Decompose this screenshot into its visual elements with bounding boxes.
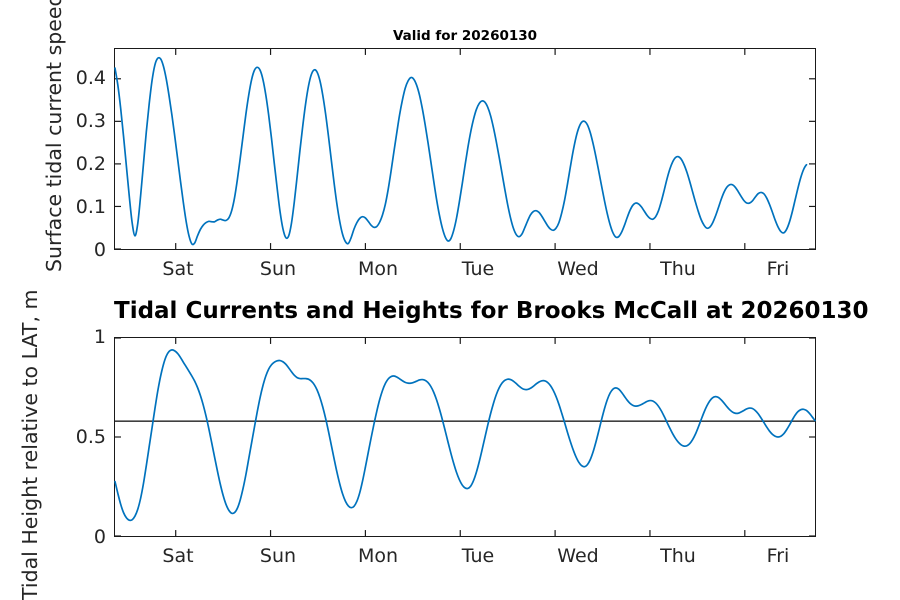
ytick-label: 1 bbox=[50, 328, 106, 347]
current-speed-plot-area bbox=[115, 49, 815, 249]
xtick-label: Fri bbox=[733, 545, 823, 567]
page-title: Tidal Currents and Heights for Brooks Mc… bbox=[114, 297, 874, 325]
xtick-label: Wed bbox=[533, 258, 623, 280]
xtick-label: Tue bbox=[433, 545, 523, 567]
current-speed-ylabel: Surface tidal current speed, kn bbox=[44, 0, 65, 272]
xtick-label: Thu bbox=[633, 545, 723, 567]
xtick-label: Sun bbox=[233, 545, 323, 567]
series-line bbox=[115, 350, 815, 520]
tidal-figure: Valid for 20260130 0 0.1 0.2 0.3 0.4 Sat… bbox=[0, 0, 900, 600]
ytick-label: 0 bbox=[50, 528, 106, 547]
xtick-label: Sun bbox=[233, 258, 323, 280]
tidal-height-ylabel: Tidal Height relative to LAT, m bbox=[20, 290, 41, 600]
xtick-label: Mon bbox=[333, 545, 423, 567]
tidal-height-axes bbox=[114, 337, 816, 537]
tidal-height-plot-area bbox=[115, 338, 815, 536]
current-speed-axes bbox=[114, 48, 816, 250]
current-chart-subtitle: Valid for 20260130 bbox=[114, 28, 816, 44]
xtick-label: Thu bbox=[633, 258, 723, 280]
series-line bbox=[115, 58, 806, 245]
ytick-label: 0.5 bbox=[50, 428, 106, 447]
xtick-label: Mon bbox=[333, 258, 423, 280]
xtick-label: Sat bbox=[133, 258, 223, 280]
xtick-label: Wed bbox=[533, 545, 623, 567]
xtick-label: Fri bbox=[733, 258, 823, 280]
xtick-label: Tue bbox=[433, 258, 523, 280]
xtick-label: Sat bbox=[133, 545, 223, 567]
